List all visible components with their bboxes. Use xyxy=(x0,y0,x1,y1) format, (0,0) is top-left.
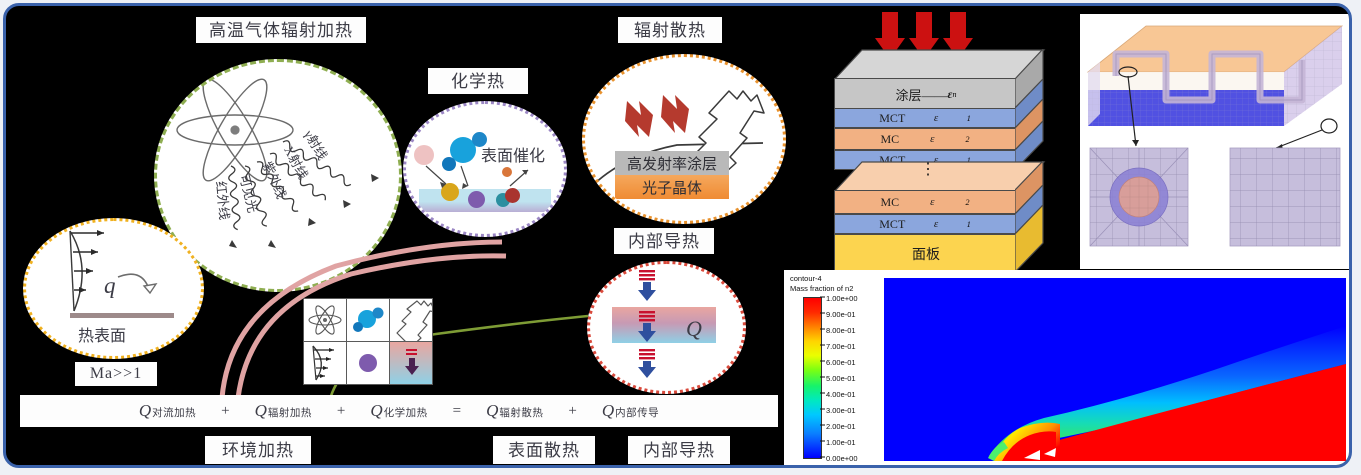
particle-icon xyxy=(347,342,389,384)
layered-stack-panel: 辐射波λ 涂层——εn MCT xyxy=(834,12,1066,268)
eq-op-equals: = xyxy=(453,403,461,420)
boundary-layer-icon xyxy=(304,342,346,384)
eq-op-2: + xyxy=(337,403,345,420)
conduction-arrow-icon xyxy=(390,342,432,384)
mini-cell-molecule xyxy=(347,299,389,341)
energy-balance-equation: Q对流加热 + Q辐射加热 + Q化学加热 = Q辐射散热 + Q内部传导 xyxy=(20,395,778,427)
label-bottom-internal-conduction: 内部导热 xyxy=(628,436,730,464)
layer-eps-mc-1: ε xyxy=(930,133,934,145)
layer-name-mc-1: MC xyxy=(880,132,899,147)
layer-eps-mct-3: ε xyxy=(934,218,938,230)
contour-field xyxy=(884,278,1346,461)
layer-eps-sub-mct-1: 1 xyxy=(967,114,971,123)
layer-name-mct-1: MCT xyxy=(879,111,905,126)
layer-eps-mc-2: ε xyxy=(930,196,934,208)
mesh-panel xyxy=(1080,14,1352,269)
stack-ellipsis: ⋮ xyxy=(920,162,936,178)
colorbar-tick-marks xyxy=(820,292,840,462)
mini-cell-radiation-arrow xyxy=(390,299,432,341)
zigzag-arrow-icon xyxy=(390,299,432,341)
mini-cell-atom xyxy=(304,299,346,341)
figure-root: 高温气体辐射加热 化学热 辐射散热 内部导热 xyxy=(0,0,1361,475)
stack-layer-mct-3: MCT ε1 xyxy=(834,214,1016,234)
mini-cell-boundary-layer xyxy=(304,342,346,384)
stack-layer-panel: 面板 xyxy=(834,234,1016,272)
eq-op-1: + xyxy=(221,403,229,420)
label-surface-cooling: 表面散热 xyxy=(493,436,595,464)
stack-side-panel xyxy=(1015,205,1045,273)
stack-layer-mc-2: MC ε2 xyxy=(834,190,1016,214)
stack-layer-mct-1: MCT ε1 xyxy=(834,108,1016,128)
eq-op-3: + xyxy=(568,403,576,420)
eq-term-radiative-heating: Q辐射加热 xyxy=(255,401,312,421)
eq-term-chemical: Q化学加热 xyxy=(370,401,427,421)
eq-term-radiative-cooling: Q辐射散热 xyxy=(486,401,543,421)
layer-name-coating: 涂层—— xyxy=(896,85,948,104)
layer-eps-mct-1: ε xyxy=(934,112,938,124)
stack-layer-mc-1: MC ε2 xyxy=(834,128,1016,150)
layer-name-panel: 面板 xyxy=(912,244,940,264)
atom-icon xyxy=(304,299,346,341)
mesh-artwork xyxy=(1080,14,1352,269)
layer-eps-sub-coating: n xyxy=(952,90,956,99)
mini-cell-conduction xyxy=(390,342,432,384)
figure-frame: 高温气体辐射加热 化学热 辐射散热 内部导热 xyxy=(3,3,1352,468)
mini-cell-particle xyxy=(347,342,389,384)
layer-name-mc-2: MC xyxy=(880,195,899,210)
contour-legend-title: contour-4 xyxy=(790,274,822,283)
label-environment-heating: 环境加热 xyxy=(205,436,311,464)
stack-layer-coating: 涂层——εn xyxy=(834,78,1016,108)
layer-eps-sub-mct-3: 1 xyxy=(967,220,971,229)
contour-panel: contour-4 Mass fraction of n2 1.00e+00 9… xyxy=(784,270,1352,468)
layer-eps-sub-mc-2: 2 xyxy=(965,198,969,207)
eq-term-internal-conduction: Q内部传导 xyxy=(602,401,659,421)
eq-term-convective: Q对流加热 xyxy=(139,401,196,421)
molecule-icon xyxy=(347,299,389,341)
layer-eps-sub-mc-1: 2 xyxy=(965,135,969,144)
mechanism-icon-grid xyxy=(303,298,433,385)
layer-name-mct-3: MCT xyxy=(879,217,905,232)
